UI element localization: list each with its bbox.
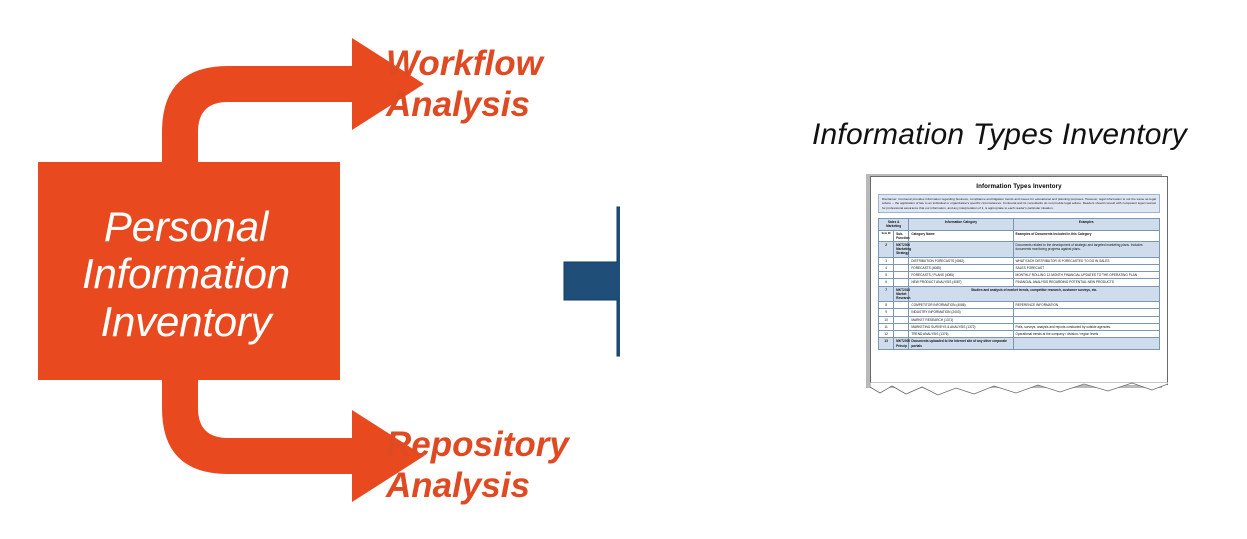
workflow-label-line-1: Workflow — [386, 44, 543, 85]
repository-label-line-1: Repository — [386, 425, 569, 466]
cell-examples: REFERENCE INFORMATION — [1013, 302, 1159, 309]
table-row: 8COMPETITOR INFORMATION (4086)REFERENCE … — [879, 302, 1160, 309]
document-page: Information Types Inventory Disclaimer: … — [870, 176, 1168, 385]
cell-sub-function — [894, 309, 909, 316]
column-header-cell: Item ID — [879, 230, 894, 241]
cell-category-name: COMPETITOR INFORMATION (4086) — [909, 302, 1013, 309]
table-row: 6NEW PRODUCT ANALYSIS (4087)FINANCIAL AN… — [879, 279, 1160, 286]
cell-item-id: 11 — [879, 323, 894, 330]
cell-item-id: 2 — [879, 242, 894, 258]
table-row: 4FORECASTS (4085)SALES FORECAST — [879, 264, 1160, 271]
table-row: 3DISTRIBUTION FORECASTS (4062)WHAT EACH … — [879, 257, 1160, 264]
document-caption: Information Types Inventory — [812, 118, 1242, 152]
cell-examples: Operational trends at the company / divi… — [1013, 331, 1159, 338]
cell-sub-function: MKT2000 Marketing Strategy — [894, 242, 909, 258]
column-header-cell: Examples of Documents Included in this C… — [1013, 230, 1159, 241]
cell-sub-function — [894, 257, 909, 264]
cell-examples: Documents related to the development of … — [1013, 242, 1159, 258]
workflow-label-line-2: Analysis — [386, 85, 543, 126]
repository-label-line-2: Analysis — [386, 466, 569, 507]
column-header-cell: Sub- Function — [894, 230, 909, 241]
cell-item-id: 6 — [879, 279, 894, 286]
table-row: 9INDUSTRY INFORMATION (2403) — [879, 309, 1160, 316]
table-row: 7MKT2010 Market ResearchStudies and anal… — [879, 286, 1160, 302]
document-title: Information Types Inventory — [871, 183, 1167, 190]
information-types-inventory-document: Information Types Inventory Disclaimer: … — [862, 168, 1174, 400]
cell-sub-function — [894, 331, 909, 338]
cell-sub-function — [894, 279, 909, 286]
cell-item-id: 12 — [879, 331, 894, 338]
document-disclaimer: Disclaimer: Contoural provides informati… — [878, 194, 1160, 213]
repository-analysis-label: Repository Analysis — [386, 425, 569, 506]
cell-category-name: TREND ANALYSIS (1376) — [909, 331, 1013, 338]
cell-category-name: NEW PRODUCT ANALYSIS (4087) — [909, 279, 1013, 286]
cell-item-id: 3 — [879, 257, 894, 264]
cell-merged-note: Studies and analysis of market trends, c… — [909, 286, 1160, 302]
cell-item-id: 7 — [879, 286, 894, 302]
cell-examples — [1013, 309, 1159, 316]
personal-information-inventory-box — [38, 162, 340, 380]
inventory-table-body: Sales & MarketingInformation CategoryExa… — [879, 219, 1160, 350]
cell-category-name: MARKETING SURVEYS & ANALYSIS (1372) — [909, 323, 1013, 330]
cell-examples: WHAT EACH DISTRIBUTOR IS FORECASTED TO D… — [1013, 257, 1159, 264]
cell-category-name — [909, 242, 1013, 258]
table-row: 10MARKET RESEARCH (1371) — [879, 316, 1160, 323]
group-header-cell: Examples — [1013, 219, 1159, 230]
plus-sign-shape — [564, 207, 620, 356]
table-row: 13MKT2000 PrincipDocuments uploaded to t… — [879, 338, 1160, 349]
cell-item-id: 9 — [879, 309, 894, 316]
group-header-cell: Information Category — [909, 219, 1013, 230]
cell-category-name: INDUSTRY INFORMATION (2403) — [909, 309, 1013, 316]
cell-item-id: 5 — [879, 272, 894, 279]
cell-item-id: 8 — [879, 302, 894, 309]
cell-examples: SALES FORECAST — [1013, 264, 1159, 271]
table-column-header-row: Item IDSub- FunctionCategory NameExample… — [879, 230, 1160, 241]
group-header-cell: Sales & Marketing — [879, 219, 909, 230]
cell-sub-function — [894, 264, 909, 271]
cell-examples — [1013, 316, 1159, 323]
cell-category-name: FORECASTS (4085) — [909, 264, 1013, 271]
inventory-table: Sales & MarketingInformation CategoryExa… — [878, 218, 1160, 350]
table-row: 12TREND ANALYSIS (1376)Operational trend… — [879, 331, 1160, 338]
workflow-analysis-label: Workflow Analysis — [386, 44, 543, 125]
cell-item-id: 4 — [879, 264, 894, 271]
cell-category-name: FORECASTS / PLANS (4085) — [909, 272, 1013, 279]
cell-item-id: 13 — [879, 338, 894, 349]
cell-examples: FINANCIAL ANALYSIS REGARDING POTENTIAL N… — [1013, 279, 1159, 286]
column-header-cell: Category Name — [909, 230, 1013, 241]
document-torn-edge — [870, 382, 1168, 398]
cell-examples: MONTHLY ROLLING 12-MONTH FINANCIAL UPDAT… — [1013, 272, 1159, 279]
cell-sub-function: MKT2000 Princip — [894, 338, 909, 349]
cell-category-name: DISTRIBUTION FORECASTS (4062) — [909, 257, 1013, 264]
cell-sub-function — [894, 316, 909, 323]
cell-sub-function — [894, 302, 909, 309]
cell-sub-function — [894, 323, 909, 330]
diagram-canvas: Personal Information Inventory Workflow … — [0, 0, 1247, 539]
table-group-header-row: Sales & MarketingInformation CategoryExa… — [879, 219, 1160, 230]
table-row: 5FORECASTS / PLANS (4085)MONTHLY ROLLING… — [879, 272, 1160, 279]
cell-examples: Polls, surveys, analysis and reports con… — [1013, 323, 1159, 330]
cell-sub-function: MKT2010 Market Research — [894, 286, 909, 302]
cell-sub-function — [894, 272, 909, 279]
table-row: 11MARKETING SURVEYS & ANALYSIS (1372)Pol… — [879, 323, 1160, 330]
cell-category-name: MARKET RESEARCH (1371) — [909, 316, 1013, 323]
cell-examples — [1013, 338, 1159, 349]
cell-category-name: Documents uploaded to the Internet site … — [909, 338, 1013, 349]
table-row: 2MKT2000 Marketing StrategyDocuments rel… — [879, 242, 1160, 258]
cell-item-id: 10 — [879, 316, 894, 323]
